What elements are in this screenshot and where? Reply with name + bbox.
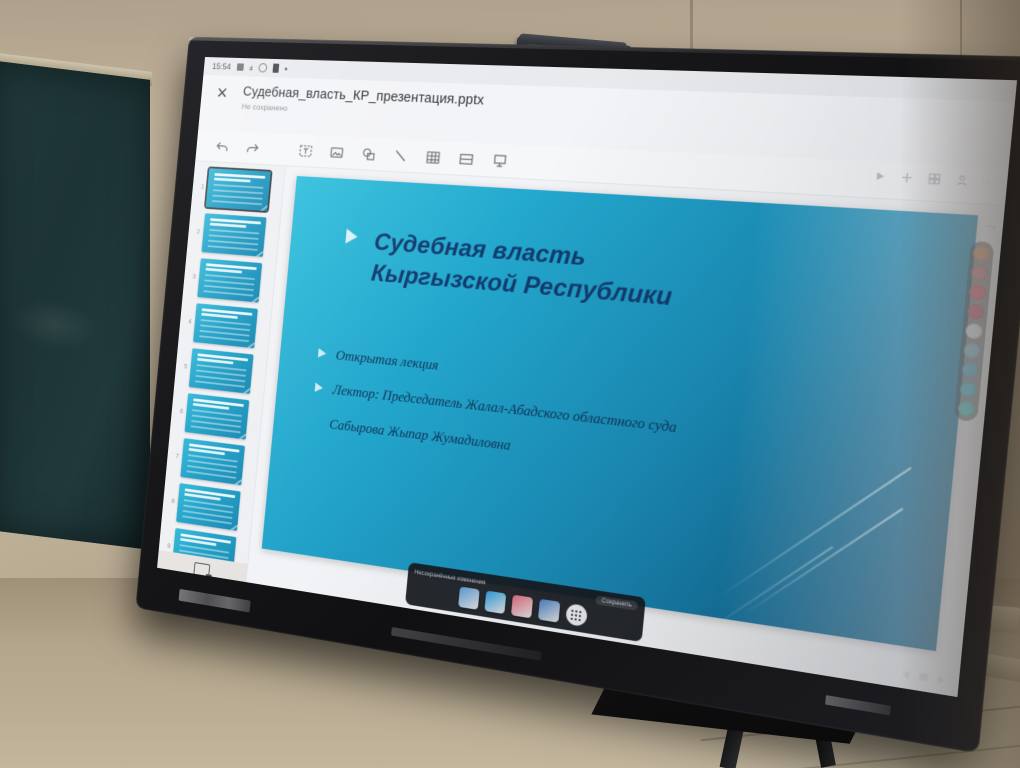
clock: 15:54 — [212, 62, 231, 72]
title-bullet-icon — [345, 229, 358, 245]
slide-thumbnail[interactable] — [197, 258, 262, 302]
thumbnail-row[interactable]: 7 — [166, 436, 259, 487]
thumbnail-row[interactable]: 1 — [191, 167, 284, 212]
close-button[interactable]: ✕ — [212, 83, 232, 104]
redo-icon[interactable] — [244, 139, 261, 157]
battery-icon — [272, 64, 279, 73]
bluetooth-icon[interactable]: ⅎ — [249, 63, 253, 71]
text-box-icon[interactable] — [297, 141, 315, 159]
file-manager-icon[interactable] — [458, 586, 480, 609]
classroom-photo: 15:54 ⅎ ✕ Судебная_власть_КР_презентация… — [0, 0, 1020, 768]
thumbnail-row[interactable]: 6 — [170, 392, 263, 442]
thumbnail-row[interactable]: 2 — [187, 212, 280, 258]
play-icon[interactable] — [871, 169, 887, 183]
shapes-icon[interactable] — [359, 144, 377, 163]
bullet-text: Сабырова Жыпар Жумадиловна — [328, 414, 511, 458]
bullet-triangle-icon — [312, 417, 321, 427]
slide-thumbnail[interactable] — [201, 213, 266, 257]
thumbnail-row[interactable]: 8 — [162, 481, 254, 533]
settings-icon[interactable] — [258, 63, 267, 72]
thumbnail-row[interactable]: 4 — [178, 302, 271, 350]
bullet-triangle-icon — [315, 383, 324, 393]
slide-bullet: Сабырова Жыпар Жумадиловна — [311, 412, 905, 506]
slide-bullet: Открытая лекция — [317, 344, 912, 428]
title-block: Судебная_власть_КР_презентация.pptx Не с… — [241, 84, 484, 120]
notes-app-icon[interactable] — [484, 590, 506, 614]
slide-thumbnail[interactable] — [189, 348, 254, 394]
corner-shadow — [900, 0, 1020, 768]
browser-app-icon[interactable] — [537, 599, 559, 623]
line-icon[interactable] — [391, 146, 410, 165]
undo-icon[interactable] — [214, 137, 231, 155]
more-icon[interactable] — [285, 67, 288, 70]
screenshot-icon[interactable] — [236, 63, 243, 70]
thumbnail-row[interactable]: 3 — [183, 257, 276, 304]
thumbnail-row[interactable]: 5 — [174, 347, 267, 396]
table-icon[interactable] — [424, 148, 443, 167]
slide-thumbnail[interactable] — [185, 393, 250, 439]
slide-thumbnail[interactable] — [176, 483, 241, 531]
image-icon[interactable] — [328, 143, 346, 162]
gallery-app-icon[interactable] — [510, 595, 532, 619]
slide-thumbnail[interactable] — [206, 168, 271, 211]
all-apps-icon[interactable] — [565, 603, 588, 627]
slide-note-icon[interactable] — [490, 151, 510, 170]
layout-icon[interactable] — [457, 149, 476, 168]
slide-title-line2: Кыргызской Республики — [370, 259, 673, 310]
slide-thumbnail[interactable] — [193, 303, 258, 348]
slide-thumbnail[interactable] — [180, 438, 245, 485]
interactive-whiteboard: 15:54 ⅎ ✕ Судебная_власть_КР_презентация… — [110, 40, 980, 700]
bullet-text: Открытая лекция — [335, 345, 440, 378]
bullet-triangle-icon — [318, 348, 327, 358]
